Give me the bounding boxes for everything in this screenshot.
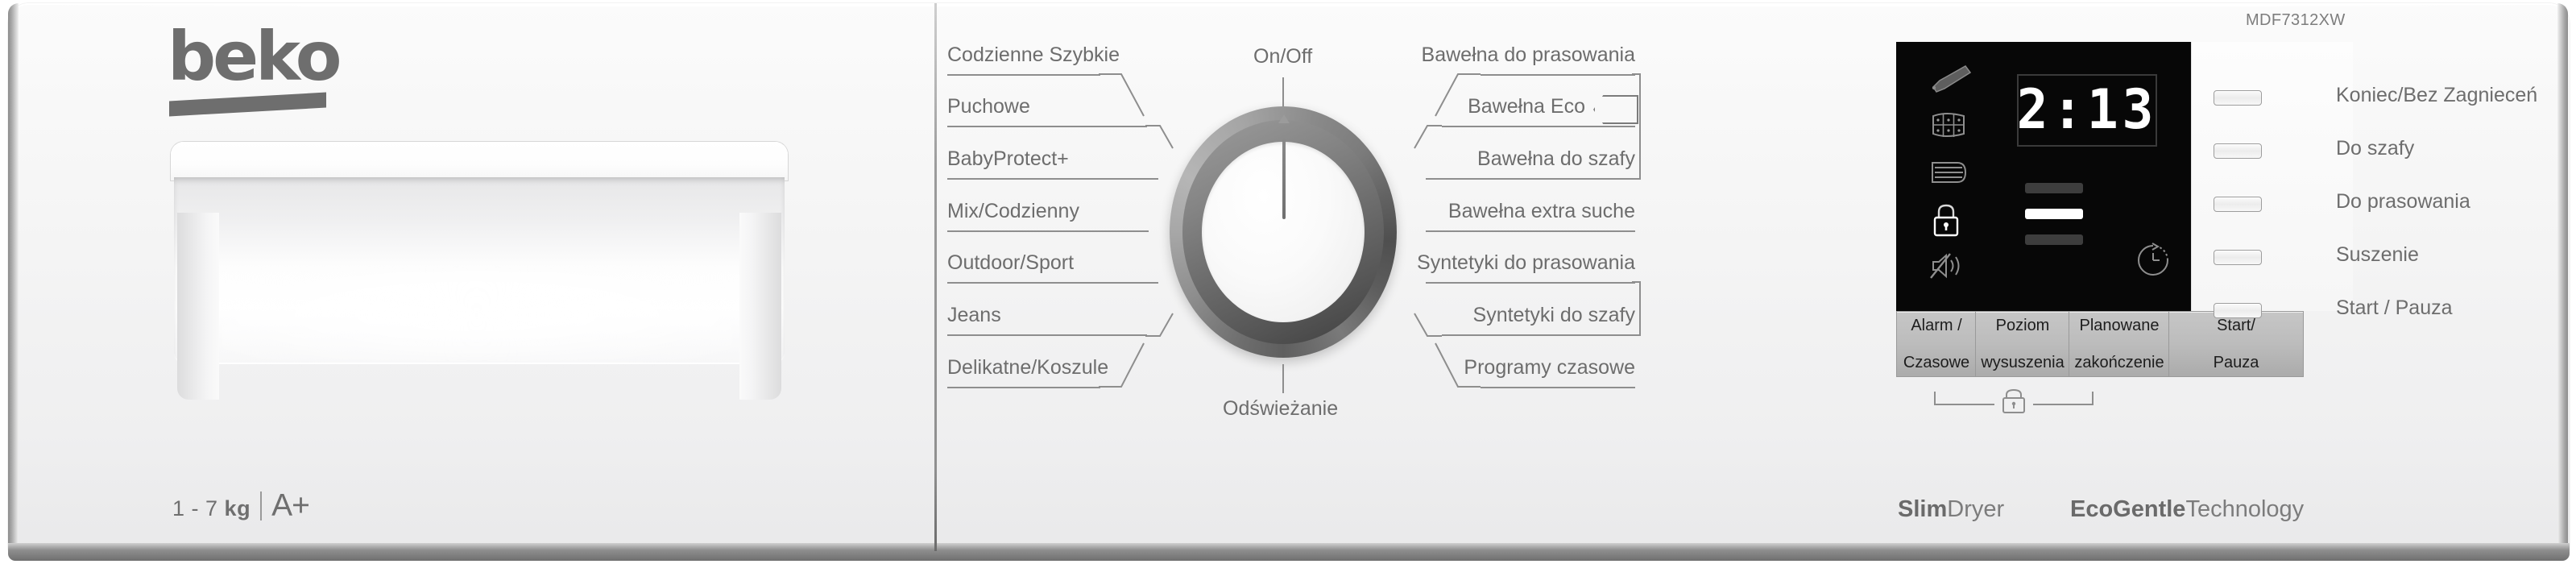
lcd-time-value: 2:13 [2017,83,2158,138]
dryness-level-bar-3 [2025,234,2083,245]
status-label-3: Suszenie [2336,245,2419,265]
program-right-connector-6 [1434,342,1482,388]
capacity-energy-info: 1 - 7 kg A+ [172,487,309,524]
water-tank-drawer[interactable] [171,142,788,364]
program-right-0[interactable]: Bawełna do prasowania [1410,45,1635,65]
right-edge [2557,3,2568,554]
program-left-rule-1 [947,126,1147,127]
filter-mesh-icon [1928,110,1973,145]
program-left-5[interactable]: Jeans [947,305,1001,326]
program-left-4[interactable]: Outdoor/Sport [947,253,1074,273]
status-icon-column [1928,63,1985,297]
lint-filter-icon [1928,156,1973,192]
button-start-pauza[interactable]: Start/Pauza [2168,311,2304,377]
status-label-0: Koniec/Bez Zagnieceń [2336,85,2537,106]
on-off-stem [1282,77,1284,106]
dial-label-on-off: On/Off [1253,47,1312,67]
program-right-4[interactable]: Syntetyki do prasowania [1402,253,1635,273]
program-left-6[interactable]: Delikatne/Koszule [947,358,1108,378]
program-left-rule-5 [947,334,1147,336]
capacity-divider [260,491,262,520]
led-indicator-1 [2214,143,2262,159]
energy-class: A+ [271,488,309,524]
drawer-glow [219,267,735,363]
drawer-lip [171,142,788,180]
program-right-rule-5 [1442,334,1635,336]
program-right-rule-1 [1442,126,1635,127]
clean-brush-icon [1928,63,1973,98]
led-indicator-3 [2214,250,2262,265]
ecogentle-brandmark: EcoGentleTechnology [2070,496,2304,523]
program-right-1[interactable]: Bawełna Eco [1410,97,1585,117]
button-planowane-zakonczenie[interactable]: Planowanezakończenie [2069,311,2170,377]
program-left-rule-0 [947,74,1100,76]
program-left-rule-2 [947,178,1158,180]
lcd-time-display: 2:13 [2017,74,2157,147]
dryness-level-bar-2 [2025,209,2083,219]
drawer-left-wall [177,213,219,400]
program-right-3[interactable]: Bawełna extra suche [1410,201,1635,222]
program-selector-dial[interactable] [1170,106,1397,358]
dryer-control-panel: beko 1 - 7 kg A+ On/Off Odświeżanie Codz… [0,0,2576,564]
child-lock-combo-indicator [1933,387,2094,416]
led-indicator-0 [2214,90,2262,106]
beko-logo: beko [168,23,377,111]
dryness-level-bar-1 [2025,183,2083,193]
refresh-stem [1282,364,1284,393]
program-right-rule-6 [1481,387,1635,388]
button-alarm-czasowe[interactable]: Alarm /Czasowe [1896,311,1977,377]
led-strip-background [2191,42,2353,311]
top-highlight [24,4,2553,6]
program-left-connector-0 [1099,73,1147,118]
cotton-group-bracket [1630,74,1642,180]
program-left-rule-6 [947,387,1100,388]
program-right-2[interactable]: Bawełna do szafy [1410,149,1635,169]
led-indicator-4 [2214,303,2262,318]
program-right-connector-1 [1414,124,1443,150]
program-left-connector-6 [1099,342,1147,388]
program-left-connector-5 [1145,313,1174,338]
program-left-3[interactable]: Mix/Codzienny [947,201,1079,222]
program-right-connector-5 [1414,313,1443,338]
program-left-rule-3 [947,230,1149,232]
drawer-right-wall [739,213,781,400]
capacity-value: 1 - 7 kg [172,496,251,521]
synthetic-group-bracket [1630,282,1642,337]
program-left-2[interactable]: BabyProtect+ [947,149,1069,169]
child-lock-icon [1928,203,1973,238]
program-left-0[interactable]: Codzienne Szybkie [947,45,1120,65]
dial-pointer [1282,139,1286,219]
status-label-4: Start / Pauza [2336,298,2453,318]
display-console: 2:13 [1896,42,2191,311]
program-right-rule-4 [1426,282,1635,284]
bottom-edge [8,543,2570,561]
program-right-rule-0 [1481,74,1635,76]
button-poziom-wysuszenia[interactable]: Poziomwysuszenia [1975,311,2070,377]
status-label-2: Do prasowania [2336,192,2470,212]
program-right-rule-2 [1426,178,1635,180]
drawer-cavity [174,177,785,364]
status-label-1: Do szafy [2336,139,2414,159]
mute-icon [1928,250,1973,285]
program-left-connector-1 [1145,124,1174,150]
slimdryer-brandmark: SlimDryer [1898,496,2004,523]
left-edge [8,3,19,554]
dial-label-odswiezanie: Odświeżanie [1223,399,1338,419]
program-left-rule-4 [947,282,1158,284]
program-right-5[interactable]: Syntetyki do szafy [1410,305,1635,326]
brand-wordmark: beko [168,23,377,90]
delay-timer-icon [2135,242,2172,279]
program-right-rule-3 [1426,230,1635,232]
program-left-1[interactable]: Puchowe [947,97,1030,117]
panel-seam [934,3,937,551]
led-indicator-2 [2214,197,2262,212]
model-number: MDF7312XW [2246,11,2346,30]
